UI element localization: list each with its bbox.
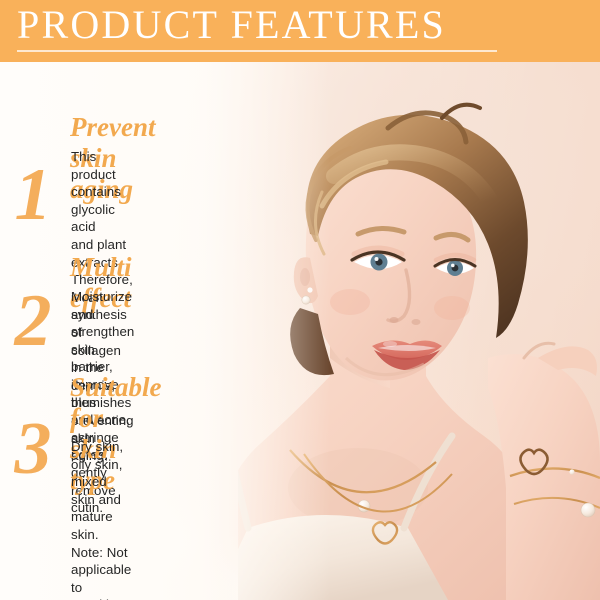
title-underline [17,50,497,52]
feature-number-3: 3 [0,412,70,486]
feature-number-1: 1 [0,158,70,232]
page-title: PRODUCT FEATURES [17,3,446,47]
product-features-banner: PRODUCT FEATURES 1 Prevent skin aging Th… [0,0,600,600]
feature-number-2: 2 [0,284,70,358]
feature-body-3: Dry skin, oily skin, mixed skin and matu… [71,438,131,600]
header-banner: PRODUCT FEATURES [0,0,600,62]
